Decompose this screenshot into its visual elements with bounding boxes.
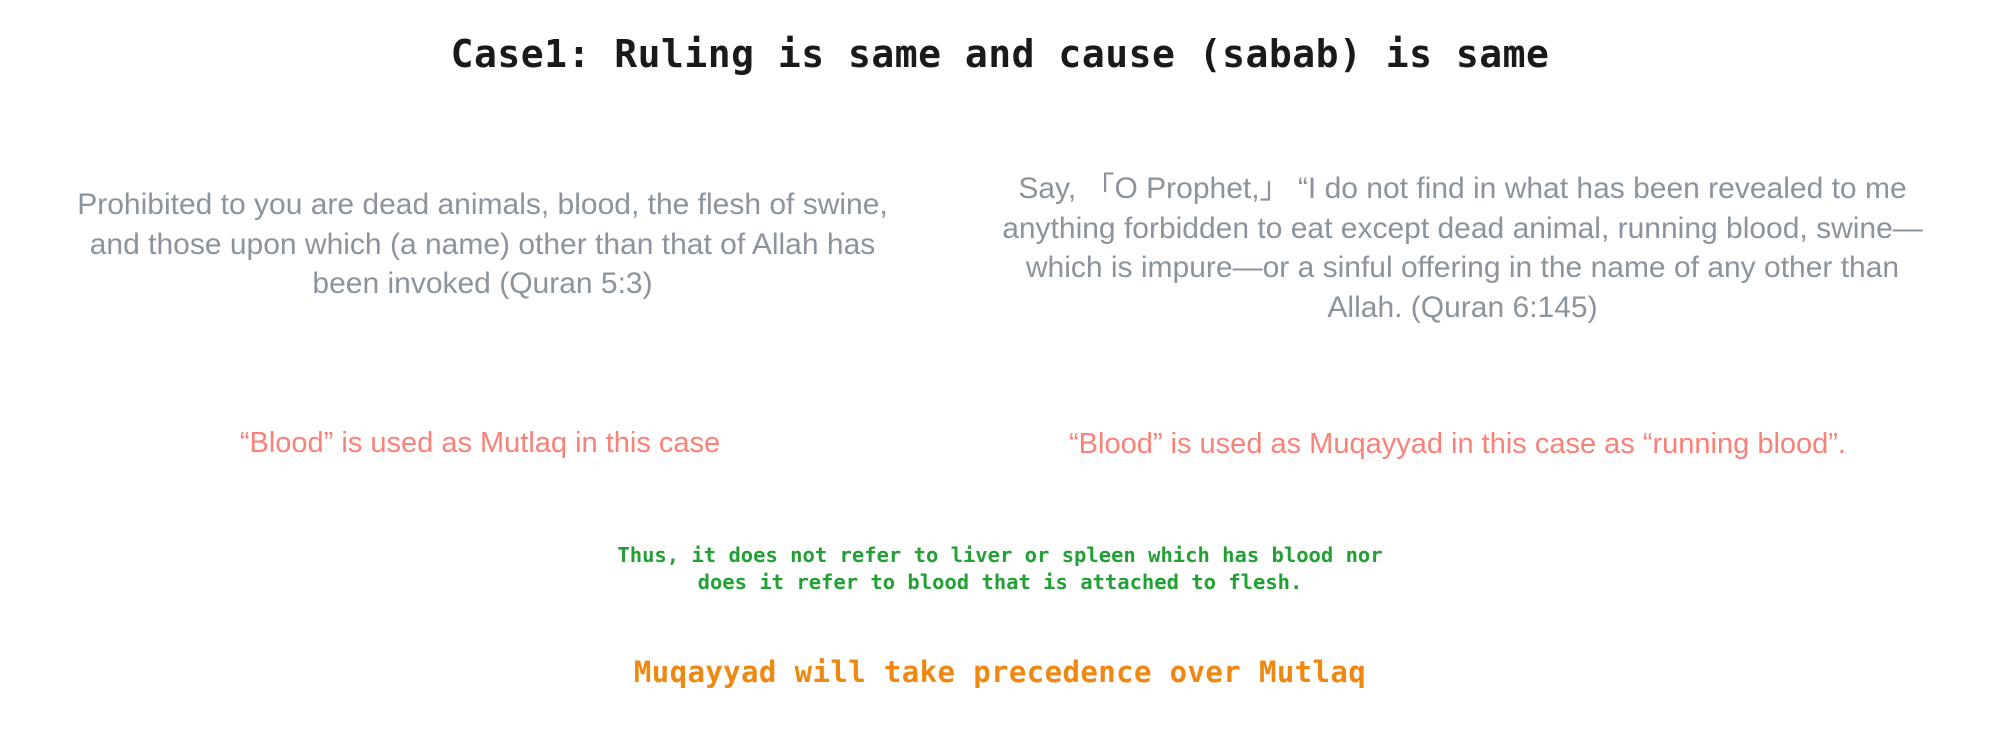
evidence-column-left: Prohibited to you are dead animals, bloo… xyxy=(0,185,960,304)
evidence-column-right: Say, 「O Prophet,」 “I do not find in what… xyxy=(960,185,2000,327)
usage-column-left: “Blood” is used as Mutlaq in this case xyxy=(0,425,960,463)
usage-row: “Blood” is used as Mutlaq in this case “… xyxy=(0,425,2000,463)
verdict-statement: Muqayyad will take precedence over Mutla… xyxy=(0,655,2000,689)
usage-column-right: “Blood” is used as Muqayyad in this case… xyxy=(960,425,2000,463)
inference-note: Thus, it does not refer to liver or sple… xyxy=(0,542,2000,597)
evidence-quote-right: Say, 「O Prophet,」 “I do not find in what… xyxy=(990,169,1935,327)
usage-label-muqayyad: “Blood” is used as Muqayyad in this case… xyxy=(980,426,1935,464)
usage-label-mutlaq: “Blood” is used as Mutlaq in this case xyxy=(60,425,900,463)
inference-note-line2: does it refer to blood that is attached … xyxy=(0,569,2000,596)
evidence-quote-left: Prohibited to you are dead animals, bloo… xyxy=(60,185,905,304)
evidence-row: Prohibited to you are dead animals, bloo… xyxy=(0,185,2000,327)
page-title: Case1: Ruling is same and cause (sabab) … xyxy=(0,32,2000,76)
slide-canvas: Case1: Ruling is same and cause (sabab) … xyxy=(0,0,2000,731)
inference-note-line1: Thus, it does not refer to liver or sple… xyxy=(617,543,1382,567)
